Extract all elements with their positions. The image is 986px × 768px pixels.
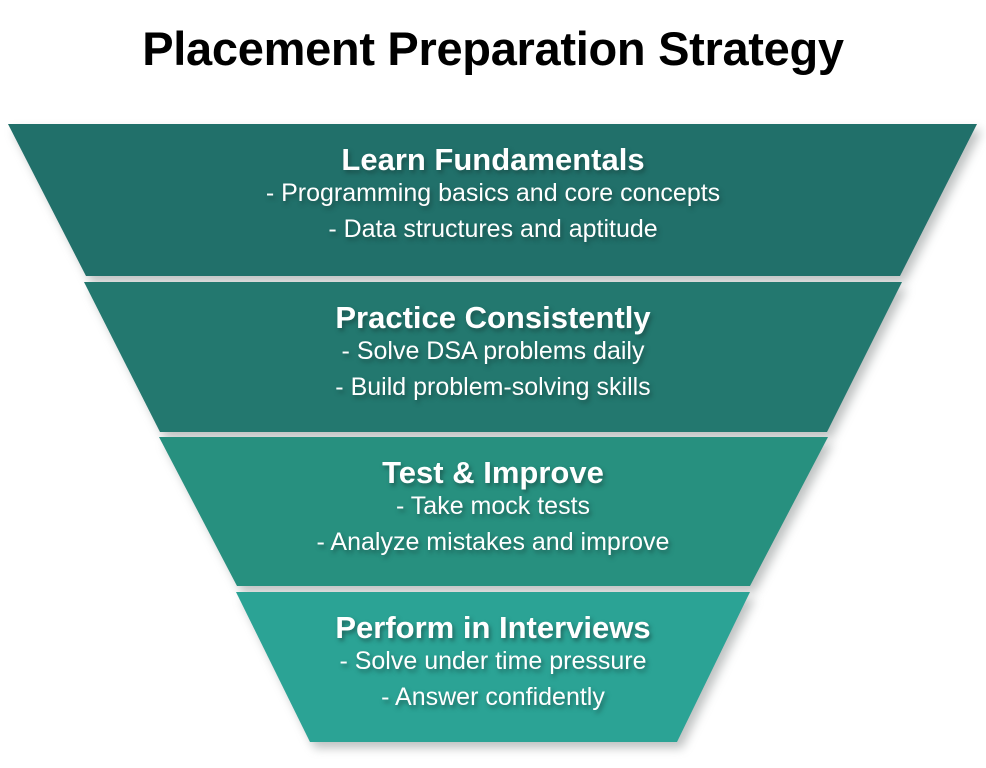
funnel-stage-1[interactable]: Learn Fundamentals - Programming basics … (0, 124, 986, 276)
funnel-stage-3[interactable]: Test & Improve - Take mock tests - Analy… (0, 437, 986, 586)
funnel-diagram-page: Placement Preparation Strategy Learn Fun… (0, 0, 986, 768)
funnel-stage-2-shape (0, 282, 986, 432)
funnel-stage-3-shape (0, 437, 986, 586)
funnel-stage-2[interactable]: Practice Consistently - Solve DSA proble… (0, 282, 986, 432)
funnel-stage-1-shape (0, 124, 986, 276)
funnel-stage-3-polygon (159, 437, 828, 586)
funnel-stage-1-polygon (8, 124, 977, 276)
funnel-chart: Learn Fundamentals - Programming basics … (0, 0, 986, 768)
funnel-stage-4[interactable]: Perform in Interviews - Solve under time… (0, 592, 986, 742)
funnel-stage-4-shape (0, 592, 986, 742)
funnel-stage-4-polygon (236, 592, 750, 742)
funnel-stage-2-polygon (84, 282, 902, 432)
